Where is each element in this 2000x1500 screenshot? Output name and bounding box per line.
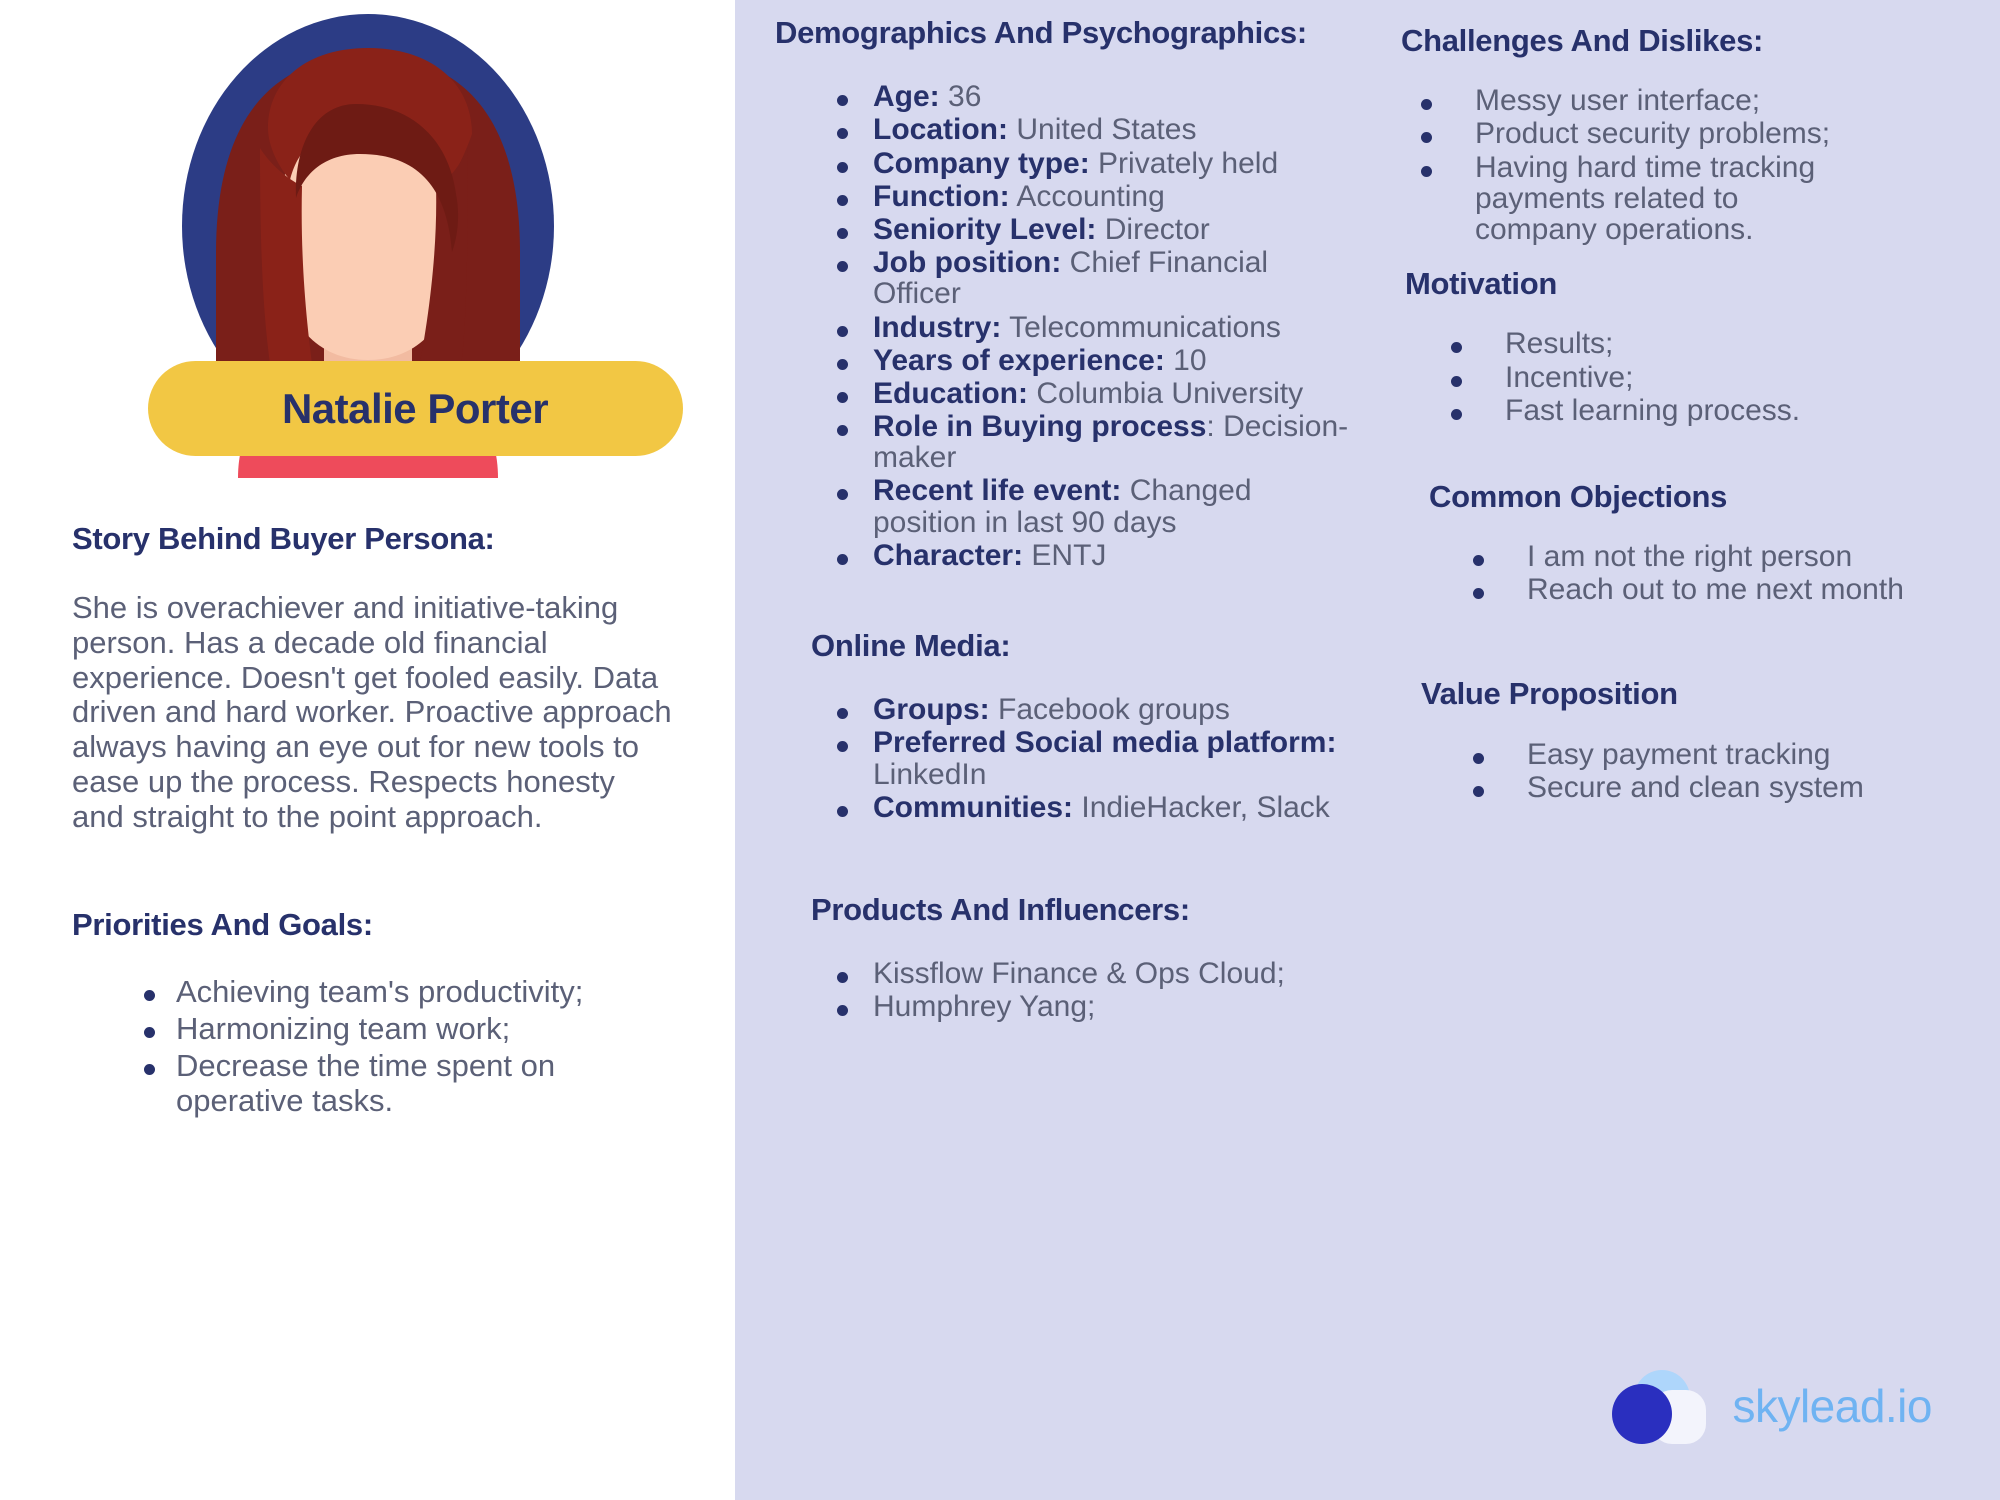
item-value: Telecommunications xyxy=(1009,311,1281,344)
list-item: Function: Accounting xyxy=(817,181,1355,212)
skylead-logo-mark-icon xyxy=(1604,1364,1716,1448)
item-label: Communities: xyxy=(873,791,1073,824)
item-value: Director xyxy=(1105,213,1210,246)
list-item: Harmonizing team work; xyxy=(120,1012,675,1047)
list-item: Company type: Privately held xyxy=(817,148,1355,179)
item-value: Privately held xyxy=(1098,147,1278,180)
item-value: IndieHacker, Slack xyxy=(1081,791,1329,824)
list-item: Role in Buying process: Decision-maker xyxy=(817,411,1355,473)
list-item: Decrease the time spent on operative tas… xyxy=(120,1049,675,1118)
list-item: Job position: Chief Financial Officer xyxy=(817,247,1355,309)
item-label: Industry: xyxy=(873,311,1001,344)
value-proposition-section-title: Value Proposition xyxy=(1421,675,2000,712)
lavender-panel: Demographics And Psychographics: Age: 36… xyxy=(735,0,2000,1500)
motivation-list: Results; Incentive; Fast learning proces… xyxy=(1431,328,1891,426)
priorities-section-title: Priorities And Goals: xyxy=(72,906,675,943)
list-item: Fast learning process. xyxy=(1431,395,1891,426)
item-value: LinkedIn xyxy=(873,758,986,791)
objections-list: I am not the right person Reach out to m… xyxy=(1453,541,1913,605)
logo-shapes xyxy=(1604,1364,1716,1448)
list-item: Secure and clean system xyxy=(1453,772,1913,803)
list-item: Character: ENTJ xyxy=(817,540,1355,571)
persona-name: Natalie Porter xyxy=(282,385,548,433)
list-item: Industry: Telecommunications xyxy=(817,312,1355,343)
list-item: Achieving team's productivity; xyxy=(120,975,675,1010)
item-label: Job position: xyxy=(873,246,1061,279)
item-label: Character: xyxy=(873,539,1023,572)
objections-section-title: Common Objections xyxy=(1429,478,2000,515)
demographics-list: Age: 36 Location: United States Company … xyxy=(817,81,1355,571)
item-value: United States xyxy=(1016,113,1196,146)
item-label: Recent life event: xyxy=(873,474,1121,507)
story-paragraph: She is overachiever and initiative-takin… xyxy=(72,591,675,834)
list-item: I am not the right person xyxy=(1453,541,1913,572)
list-item: Years of experience: 10 xyxy=(817,345,1355,376)
list-item: Easy payment tracking xyxy=(1453,739,1913,770)
list-item: Location: United States xyxy=(817,114,1355,145)
demographics-section-title: Demographics And Psychographics: xyxy=(775,14,1355,51)
item-value: 36 xyxy=(948,80,981,113)
priorities-list: Achieving team's productivity; Harmonizi… xyxy=(120,975,675,1118)
skylead-logo: skylead.io xyxy=(1604,1364,1932,1448)
left-column: Natalie Porter Story Behind Buyer Person… xyxy=(0,0,735,1500)
item-label: Preferred Social media platform: xyxy=(873,726,1336,759)
online-media-list: Groups: Facebook groups Preferred Social… xyxy=(817,694,1355,823)
list-item: Product security problems; xyxy=(1401,118,1861,149)
item-label: Company type: xyxy=(873,147,1090,180)
item-label: Years of experience: xyxy=(873,344,1165,377)
item-label: Education: xyxy=(873,377,1028,410)
motivation-section-title: Motivation xyxy=(1405,265,2000,302)
item-label: Location: xyxy=(873,113,1008,146)
list-item: Kissflow Finance & Ops Cloud; xyxy=(817,958,1355,989)
item-label: Role in Buying process xyxy=(873,410,1206,443)
persona-name-badge: Natalie Porter xyxy=(148,361,683,456)
logo-text: skylead.io xyxy=(1732,1379,1932,1433)
list-item: Groups: Facebook groups xyxy=(817,694,1355,725)
list-item: Reach out to me next month xyxy=(1453,574,1913,605)
middle-column: Demographics And Psychographics: Age: 36… xyxy=(735,0,1355,1500)
list-item: Seniority Level: Director xyxy=(817,214,1355,245)
list-item: Communities: IndieHacker, Slack xyxy=(817,792,1355,823)
avatar: Natalie Porter xyxy=(108,8,628,478)
list-item: Messy user interface; xyxy=(1401,85,1861,116)
item-value: Facebook groups xyxy=(998,693,1230,726)
story-section-title: Story Behind Buyer Persona: xyxy=(72,520,675,557)
challenges-section-title: Challenges And Dislikes: xyxy=(1401,22,2000,59)
products-section-title: Products And Influencers: xyxy=(811,891,1355,928)
right-column: Challenges And Dislikes: Messy user inte… xyxy=(1355,0,2000,1500)
list-item: Age: 36 xyxy=(817,81,1355,112)
item-value: Columbia University xyxy=(1036,377,1303,410)
list-item: Education: Columbia University xyxy=(817,378,1355,409)
list-item: Recent life event: Changed position in l… xyxy=(817,475,1355,537)
item-value: 10 xyxy=(1173,344,1206,377)
list-item: Incentive; xyxy=(1431,362,1891,393)
list-item: Having hard time tracking payments relat… xyxy=(1401,152,1861,246)
buyer-persona-infographic: Natalie Porter Story Behind Buyer Person… xyxy=(0,0,2000,1500)
item-label: Age: xyxy=(873,80,940,113)
challenges-list: Messy user interface; Product security p… xyxy=(1401,85,1861,245)
value-proposition-list: Easy payment tracking Secure and clean s… xyxy=(1453,739,1913,803)
item-value: Accounting xyxy=(1016,180,1164,213)
products-list: Kissflow Finance & Ops Cloud; Humphrey Y… xyxy=(817,958,1355,1022)
item-label: Seniority Level: xyxy=(873,213,1096,246)
item-value: ENTJ xyxy=(1031,539,1106,572)
online-media-section-title: Online Media: xyxy=(811,627,1355,664)
list-item: Results; xyxy=(1431,328,1891,359)
list-item: Preferred Social media platform: LinkedI… xyxy=(817,727,1355,789)
item-label: Groups: xyxy=(873,693,990,726)
item-label: Function: xyxy=(873,180,1010,213)
list-item: Humphrey Yang; xyxy=(817,991,1355,1022)
